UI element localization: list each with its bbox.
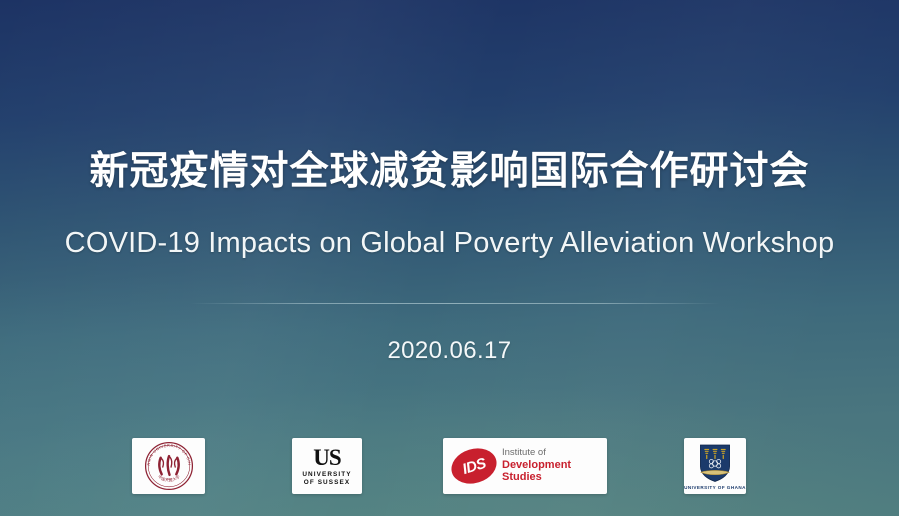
event-date: 2020.06.17 — [0, 334, 899, 368]
ids-ellipse-icon: IDS — [451, 449, 497, 483]
logo-renmin-university-of-china: RENMIN UNIVERSITY OF CHINA 1937 — [132, 438, 205, 494]
page-title-chinese: 新冠疫情对全球减贫影响国际合作研讨会 — [0, 142, 899, 202]
sponsor-logo-row: RENMIN UNIVERSITY OF CHINA 1937 — [0, 438, 899, 494]
divider — [190, 303, 720, 304]
logo-institute-of-development-studies: IDS Institute of Development Studies — [443, 438, 607, 494]
ids-monogram: IDS — [447, 443, 501, 489]
sussex-monogram-icon: US — [313, 446, 340, 469]
logo-university-of-sussex: US UNIVERSITY OF SUSSEX — [292, 438, 362, 494]
logo-university-of-ghana: UNIVERSITY OF GHANA — [684, 438, 746, 494]
renmin-seal-icon: RENMIN UNIVERSITY OF CHINA 1937 — [143, 440, 195, 492]
ghana-shield-icon — [698, 443, 732, 483]
sussex-line-2: OF SUSSEX — [304, 480, 350, 486]
ids-line-1: Institute of — [502, 448, 599, 459]
ids-line-2: Development Studies — [502, 459, 599, 484]
page-subtitle-english: COVID-19 Impacts on Global Poverty Allev… — [0, 222, 899, 264]
title-slide: 新冠疫情对全球减贫影响国际合作研讨会 COVID-19 Impacts on G… — [0, 0, 899, 516]
ghana-caption: UNIVERSITY OF GHANA — [684, 485, 746, 490]
sussex-line-1: UNIVERSITY — [302, 472, 351, 478]
